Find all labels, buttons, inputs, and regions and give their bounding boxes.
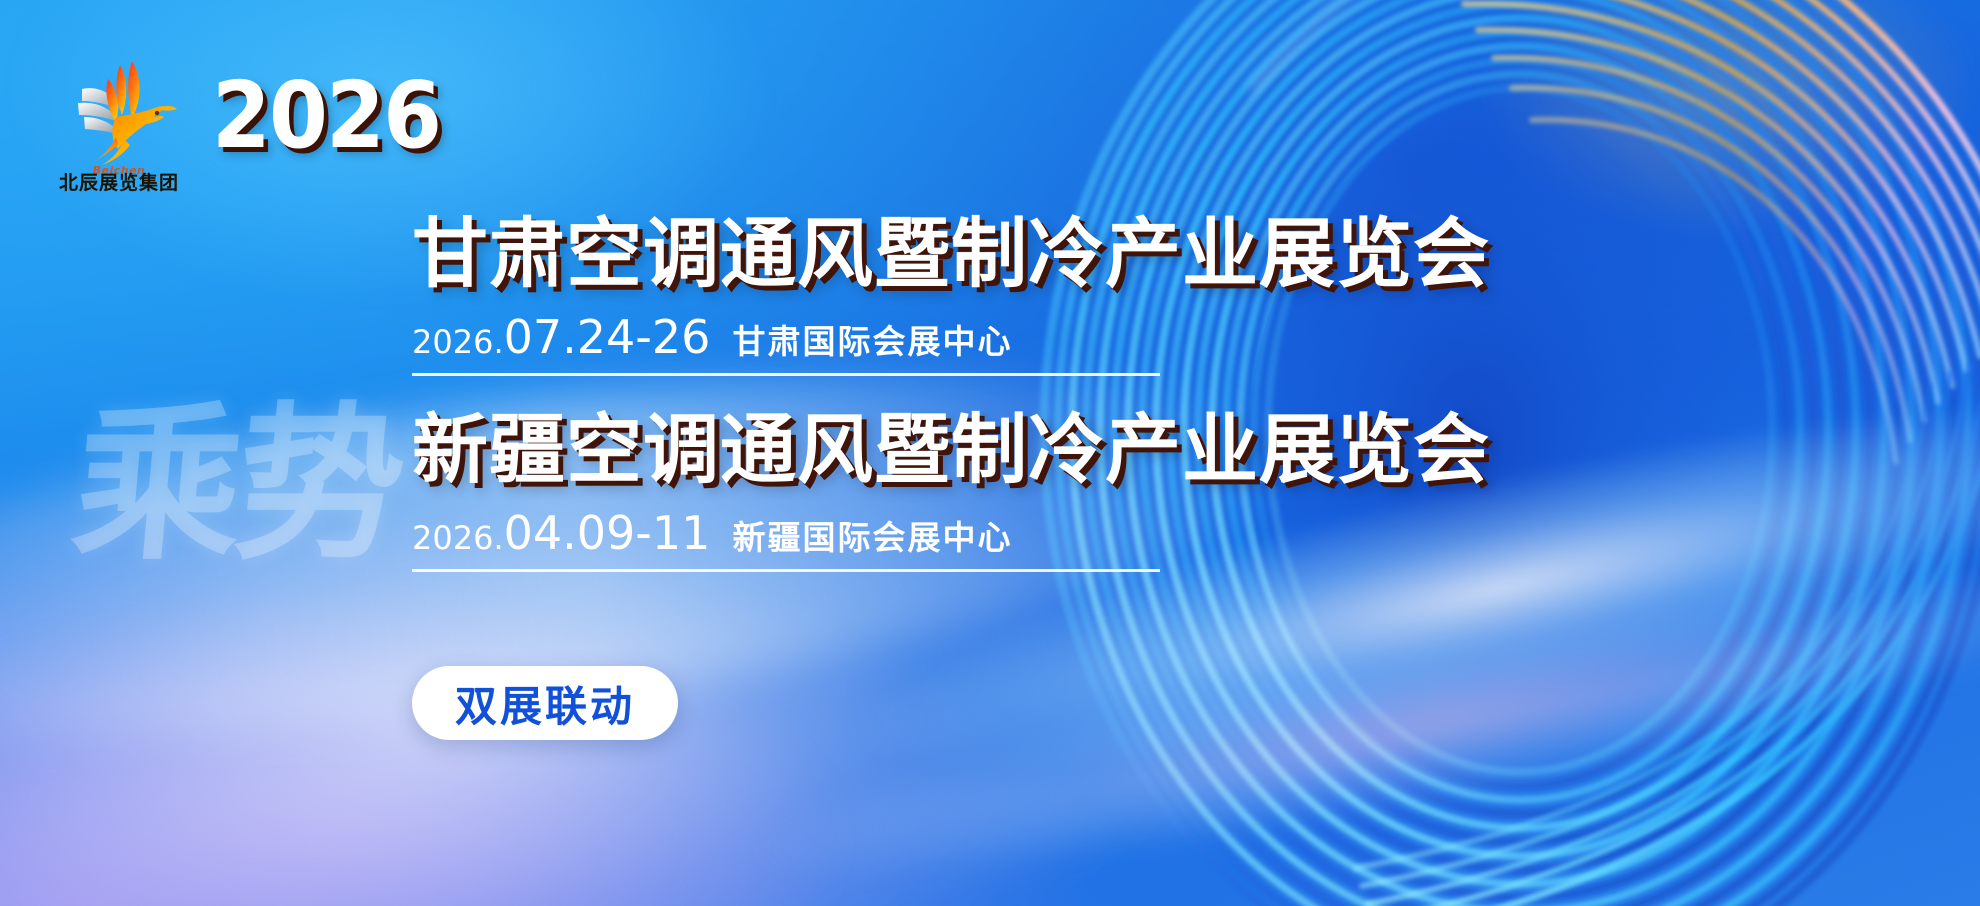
exhibition-banner: 乘势 — [0, 0, 1980, 906]
show-copy-block: 甘肃空调通风暨制冷产业展览会 2026.07.24-26 甘肃国际会展中心 新疆… — [412, 216, 1490, 572]
phoenix-bird-icon: Beichen 北辰展览集团 — [58, 45, 180, 195]
show-date-rest-gansu: 07.24-26 — [504, 310, 711, 364]
show-date-year-xinjiang: 2026. — [412, 519, 504, 557]
show-date-rest-xinjiang: 04.09-11 — [504, 506, 711, 560]
show-date-xinjiang: 2026.04.09-11 — [412, 506, 710, 560]
show-title-xinjiang: 新疆空调通风暨制冷产业展览会 — [412, 412, 1490, 488]
show-venue-xinjiang: 新疆国际会展中心 — [732, 511, 1012, 559]
show-date-year-gansu: 2026. — [412, 323, 504, 361]
calligraphy-watermark: 乘势 — [62, 400, 422, 630]
show-date-gansu: 2026.07.24-26 — [412, 310, 710, 364]
show-venue-gansu: 甘肃国际会展中心 — [732, 315, 1012, 363]
show-title-gansu: 甘肃空调通风暨制冷产业展览会 — [412, 216, 1490, 292]
show-meta-gansu: 2026.07.24-26 甘肃国际会展中心 — [412, 310, 1160, 376]
brand-logo-block: Beichen 北辰展览集团 2026 — [58, 45, 450, 195]
logo-chinese-name: 北辰展览集团 — [52, 168, 186, 195]
dual-show-pill[interactable]: 双展联动 — [412, 666, 678, 740]
show-meta-xinjiang: 2026.04.09-11 新疆国际会展中心 — [412, 506, 1160, 572]
year-badge: 2026 — [212, 70, 440, 162]
